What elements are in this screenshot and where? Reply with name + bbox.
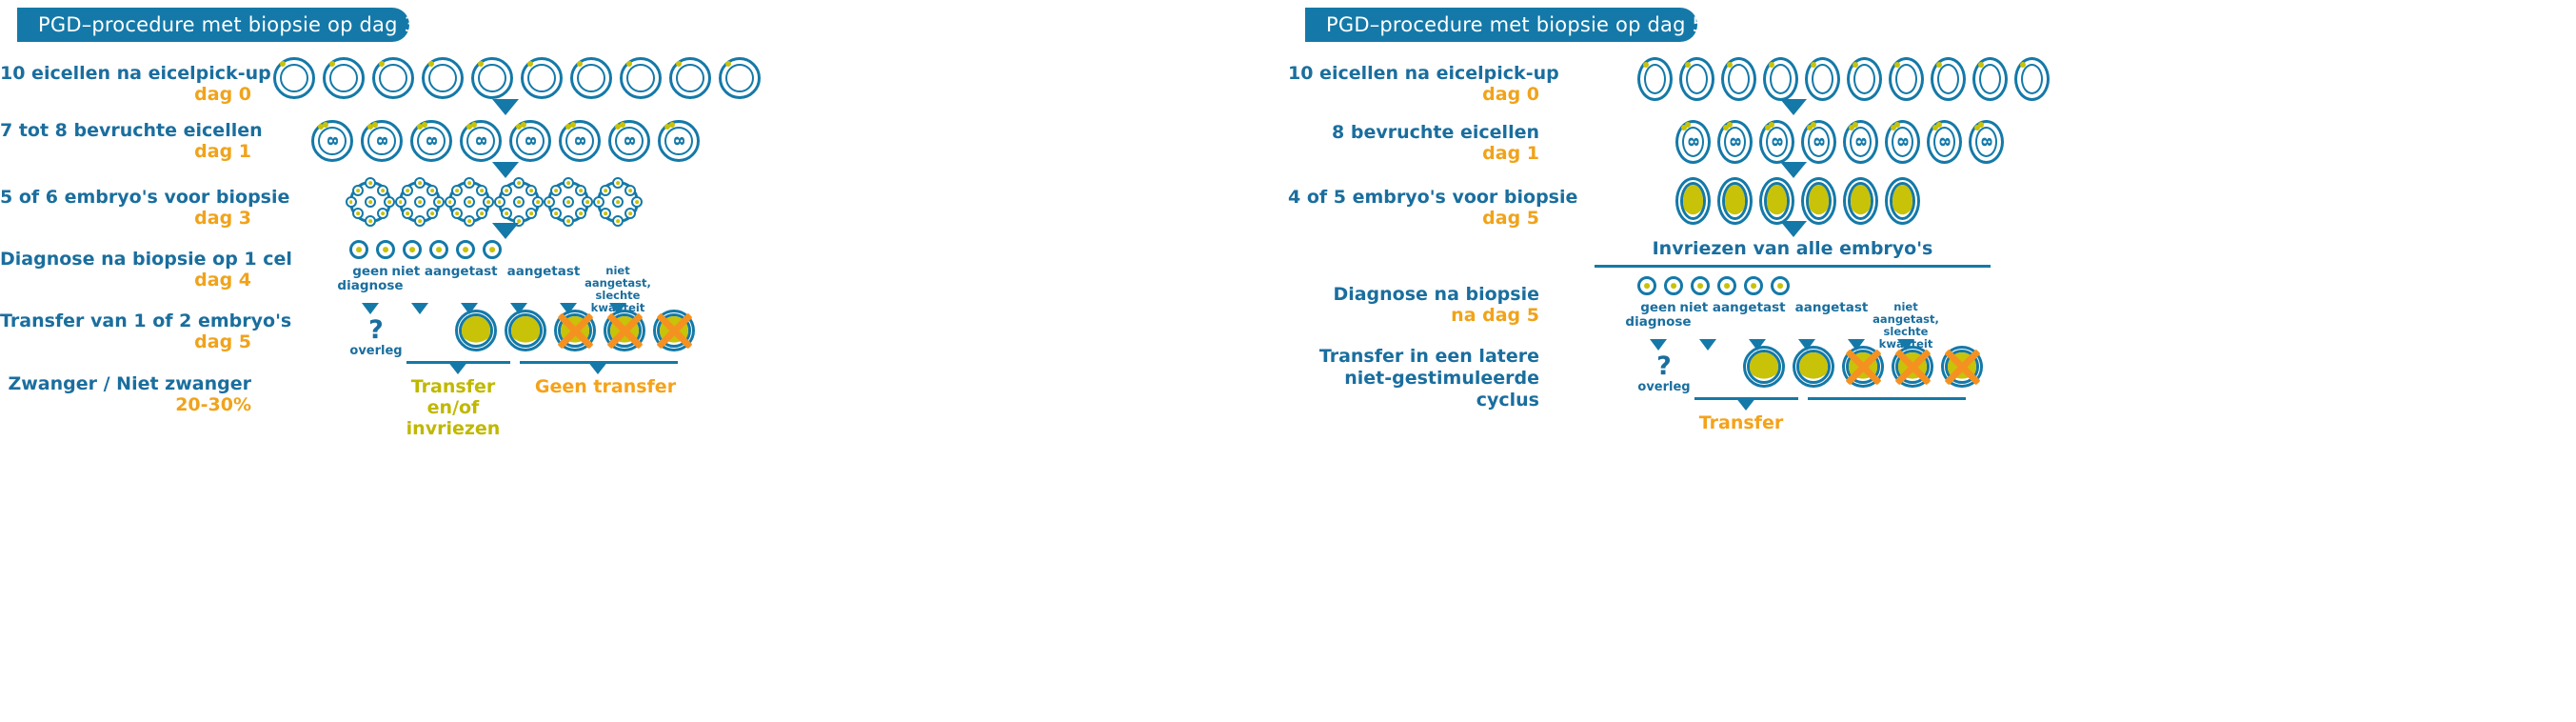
blastomere (395, 196, 406, 208)
pronuclei-icon: 8 (460, 120, 502, 162)
single-cell-biopsy-icon (1691, 276, 1710, 295)
page-title: PGD–procedure met biopsie op dag 3 (38, 13, 417, 36)
pronuclei-icon: 8 (1923, 125, 1967, 160)
stage-text: 8 bevruchte eicellen (1332, 122, 1539, 143)
blastomere (402, 208, 413, 219)
polar-body-dot (280, 61, 286, 67)
stage-day: dag 4 (0, 270, 251, 291)
single-cell-biopsy-icon (349, 240, 368, 259)
blastomere (433, 196, 445, 208)
blastomere (631, 196, 643, 208)
egg-inner-ring (280, 64, 308, 92)
question-mark-icon: ? (1636, 353, 1692, 379)
stage-label-embryos: 4 of 5 embryo's voor biopsie dag 5 (1288, 187, 1539, 230)
diagnosis-label: niet aangetast (1675, 301, 1790, 315)
blastomere (451, 208, 463, 219)
egg-cell-icon (521, 57, 563, 99)
blastomere (600, 185, 611, 196)
blastomere (445, 196, 456, 208)
egg-inner-ring (478, 64, 506, 92)
egg-inner-ring (1812, 64, 1833, 94)
fertilized-egg-icon: 8 (1801, 120, 1836, 164)
fertilized-egg-icon: 8 (559, 120, 601, 162)
fertilized-egg-icon: 8 (1759, 120, 1794, 164)
egg-inner-ring (379, 64, 407, 92)
row-outcome-embryos (406, 310, 695, 351)
pronuclei-icon: 8 (1672, 125, 1715, 160)
fertilized-egg-icon: 8 (1885, 120, 1920, 164)
row-eggs-day0 (273, 57, 761, 99)
egg-inner-ring (1937, 64, 1959, 94)
blastomere (501, 185, 512, 196)
row-outcome-embryos (1694, 346, 1983, 388)
egg-inner-ring (577, 64, 605, 92)
egg-cell-icon (1847, 57, 1882, 101)
egg-cell-icon (1931, 57, 1966, 101)
blastomere (483, 196, 494, 208)
embryo-rejected (1842, 346, 1884, 388)
blastomere (612, 215, 624, 227)
polar-body-dot (626, 61, 632, 67)
stage-label-diagnosis: Diagnose na biopsie op 1 cel dag 4 (0, 249, 251, 291)
blastomere (525, 208, 537, 219)
polar-body-dot (2020, 62, 2026, 68)
outcome-placeholder (406, 310, 447, 351)
single-cell-biopsy-icon (429, 240, 448, 259)
single-cell-biopsy-icon (1744, 276, 1763, 295)
embryo-rejected (653, 310, 695, 351)
fertilized-egg-icon: 8 (509, 120, 551, 162)
polar-body-dot (329, 61, 335, 67)
down-arrow-icon (587, 361, 608, 374)
polar-body-dot (1727, 62, 1733, 68)
row-diagnosis-cells (1637, 276, 1790, 295)
morula-embryo-icon (498, 181, 540, 223)
egg-inner-ring (2021, 64, 2043, 94)
egg-cell-icon (422, 57, 464, 99)
discard-cross-icon (1842, 346, 1884, 388)
egg-cell-icon (323, 57, 365, 99)
blastomere (612, 196, 624, 208)
row-fertilized-day1: 88888888 (1675, 120, 2004, 164)
blastomere (476, 185, 487, 196)
egg-inner-ring (1895, 64, 1917, 94)
blastomere (550, 185, 562, 196)
blastomere (414, 196, 426, 208)
blastomere (513, 177, 525, 189)
fertilized-egg-icon: 8 (1675, 120, 1711, 164)
pronuclei-icon: 8 (1714, 125, 1757, 160)
pronuclei-icon: 8 (559, 120, 601, 162)
egg-cell-icon (1972, 57, 2008, 101)
blastomere (575, 208, 586, 219)
egg-inner-ring (428, 64, 457, 92)
egg-inner-ring (527, 64, 556, 92)
discard-cross-icon (1941, 346, 1983, 388)
blastomere (624, 185, 636, 196)
page-title: PGD–procedure met biopsie op dag 5 (1326, 13, 1705, 36)
down-arrow-icon (1780, 162, 1807, 178)
egg-cell-icon (471, 57, 513, 99)
fertilized-egg-icon: 8 (1969, 120, 2004, 164)
result-transfer-freeze: Transfer en/of invriezen (386, 377, 520, 440)
blastomere (414, 177, 426, 189)
polar-body-dot (1853, 62, 1858, 68)
pronuclei-icon: 8 (1797, 125, 1841, 160)
freeze-underline (1595, 265, 1991, 268)
single-cell-biopsy-icon (1717, 276, 1736, 295)
stage-day: 20-30% (0, 394, 251, 415)
morula-embryo-icon (448, 181, 490, 223)
morula-embryo-icon (399, 181, 441, 223)
single-cell-biopsy-icon (483, 240, 502, 259)
blastomere (544, 196, 555, 208)
fertilized-egg-icon: 8 (460, 120, 502, 162)
discard-cross-icon (653, 310, 695, 351)
freeze-all-note: Invriezen van alle embryo's (1593, 238, 1992, 259)
blastomere (464, 196, 475, 208)
down-arrow-icon (492, 223, 519, 239)
egg-inner-ring (676, 64, 704, 92)
egg-inner-ring (1770, 64, 1792, 94)
egg-cell-icon (2014, 57, 2050, 101)
single-cell-biopsy-icon (376, 240, 395, 259)
blastomere (532, 196, 544, 208)
egg-cell-icon (1889, 57, 1924, 101)
stage-text: Zwanger / Niet zwanger (8, 373, 251, 394)
stage-text: Diagnose na biopsie (1333, 284, 1539, 305)
blastomere (377, 185, 388, 196)
stage-text: 7 tot 8 bevruchte eicellen (0, 120, 263, 141)
blastocyst-icon (1675, 177, 1711, 225)
egg-inner-ring (1853, 64, 1875, 94)
egg-cell-icon (669, 57, 711, 99)
blastomere (365, 177, 376, 189)
egg-cell-icon (372, 57, 414, 99)
egg-inner-ring (626, 64, 655, 92)
blastomere (464, 177, 475, 189)
blastomere (582, 196, 593, 208)
overleg-label: overleg (348, 344, 404, 358)
pronuclei-icon: 8 (608, 120, 650, 162)
stage-day: dag 3 (0, 208, 251, 229)
egg-inner-ring (725, 64, 754, 92)
pronuclei-icon: 8 (410, 120, 452, 162)
blastomere (346, 196, 357, 208)
blastomere (352, 208, 364, 219)
stage-text: Transfer van 1 of 2 embryo's (0, 311, 291, 331)
egg-cell-icon (570, 57, 612, 99)
blastomere (426, 185, 438, 196)
blastomere (593, 196, 604, 208)
blastomere (612, 177, 624, 189)
embryo-kept (455, 310, 497, 351)
blastomere (501, 208, 512, 219)
blastomere (525, 185, 537, 196)
blastomere (563, 196, 574, 208)
down-arrow-icon (492, 99, 519, 115)
discard-cross-icon (554, 310, 596, 351)
result-transfer: Transfer (1674, 413, 1808, 434)
polar-body-dot (428, 61, 434, 67)
stage-label-fertilized: 7 tot 8 bevruchte eicellen dag 1 (0, 120, 251, 163)
polar-body-dot (1685, 62, 1691, 68)
polar-body-dot (577, 61, 583, 67)
down-arrow-icon (1735, 397, 1756, 411)
embryo-kept (1743, 346, 1785, 388)
stage-label-eggs: 10 eicellen na eicelpick-up dag 0 (0, 63, 251, 106)
blastomere (402, 185, 413, 196)
row-embryos-day3 (349, 181, 639, 223)
row-eggs-day0 (1637, 57, 2050, 101)
blastomere (513, 196, 525, 208)
down-arrow-icon (1650, 339, 1667, 351)
egg-cell-icon (620, 57, 662, 99)
pronuclei-icon: 8 (1755, 125, 1799, 160)
question-mark-icon: ? (348, 317, 404, 343)
blastomere (563, 177, 574, 189)
polar-body-dot (527, 61, 533, 67)
blastocyst-icon (1885, 177, 1920, 225)
blastomere (600, 208, 611, 219)
egg-cell-icon (1763, 57, 1798, 101)
diagnosis-label: niet aangetast (387, 265, 502, 279)
polar-body-dot (1978, 62, 1984, 68)
polar-body-dot (1643, 62, 1649, 68)
embryo-rejected (554, 310, 596, 351)
stage-day: dag 1 (0, 141, 251, 162)
blastocyst-icon (1843, 177, 1878, 225)
morula-embryo-icon (547, 181, 589, 223)
down-arrow-icon (447, 361, 468, 374)
embryo-kept (505, 310, 546, 351)
blastomere (624, 208, 636, 219)
blastomere (365, 215, 376, 227)
pronuclei-icon: 8 (311, 120, 353, 162)
egg-inner-ring (1728, 64, 1750, 94)
overleg-label: overleg (1636, 380, 1692, 394)
no-diagnosis-outcome: ? overleg (348, 317, 404, 358)
blastomere (377, 208, 388, 219)
single-cell-biopsy-icon (456, 240, 475, 259)
result-no-transfer: Geen transfer (529, 377, 682, 398)
polar-body-dot (676, 61, 682, 67)
egg-cell-icon (1805, 57, 1840, 101)
panel-day3: PGD–procedure met biopsie op dag 3 10 ei… (0, 0, 1288, 722)
stage-label-embryos: 5 of 6 embryo's voor biopsie dag 3 (0, 187, 251, 230)
down-arrow-icon (492, 162, 519, 178)
polar-body-dot (1894, 62, 1900, 68)
stage-label-transfer: Transfer in een latere niet-gestimuleerd… (1288, 346, 1539, 411)
row-fertilized-day1: 88888888 (311, 120, 700, 162)
no-diagnosis-outcome: ? overleg (1636, 353, 1692, 394)
blastocyst-icon (1717, 177, 1753, 225)
stage-text: Diagnose na biopsie op 1 cel (0, 249, 292, 270)
fertilized-egg-icon: 8 (658, 120, 700, 162)
stage-text: 10 eicellen na eicelpick-up (1288, 63, 1559, 84)
polar-body-dot (725, 61, 731, 67)
embryo-rejected (604, 310, 645, 351)
stage-label-eggs: 10 eicellen na eicelpick-up dag 0 (1288, 63, 1539, 106)
fertilized-egg-icon: 8 (311, 120, 353, 162)
down-arrow-icon (1780, 221, 1807, 237)
discard-cross-icon (604, 310, 645, 351)
polar-body-dot (1769, 62, 1774, 68)
embryo-rejected (1892, 346, 1933, 388)
stage-day: dag 0 (1288, 84, 1539, 105)
panel-day5: PGD–procedure met biopsie op dag 5 10 ei… (1288, 0, 2576, 722)
egg-inner-ring (1686, 64, 1708, 94)
single-cell-biopsy-icon (1664, 276, 1683, 295)
egg-cell-icon (719, 57, 761, 99)
stage-day: dag 0 (0, 84, 251, 105)
single-cell-biopsy-icon (1771, 276, 1790, 295)
pronuclei-icon: 8 (1839, 125, 1883, 160)
blastomere (550, 208, 562, 219)
blastomere (451, 185, 463, 196)
egg-cell-icon (273, 57, 315, 99)
down-arrow-icon (362, 303, 379, 314)
panel-title-bar-day5: PGD–procedure met biopsie op dag 5 (1305, 8, 1697, 42)
polar-body-dot (379, 61, 385, 67)
blastomere (563, 215, 574, 227)
polar-body-dot (1936, 62, 1942, 68)
pronuclei-icon: 8 (1965, 125, 2009, 160)
fertilized-egg-icon: 8 (1927, 120, 1962, 164)
blastomere (365, 196, 376, 208)
blastocyst-icon (1759, 177, 1794, 225)
blastomere (575, 185, 586, 196)
fertilized-egg-icon: 8 (410, 120, 452, 162)
fertilized-egg-icon: 8 (361, 120, 403, 162)
fertilized-egg-icon: 8 (1843, 120, 1878, 164)
blastomere (494, 196, 505, 208)
egg-inner-ring (329, 64, 358, 92)
pronuclei-icon: 8 (658, 120, 700, 162)
single-cell-biopsy-icon (1637, 276, 1656, 295)
stage-label-diagnosis: Diagnose na biopsie na dag 5 (1288, 284, 1539, 327)
row-diagnosis-cells (349, 240, 502, 259)
single-cell-biopsy-icon (403, 240, 422, 259)
discard-cross-icon (1892, 346, 1933, 388)
pronuclei-icon: 8 (361, 120, 403, 162)
blastomere (476, 208, 487, 219)
blastomere (414, 215, 426, 227)
group-bracket-reject (1808, 397, 1966, 400)
fertilized-egg-icon: 8 (1717, 120, 1753, 164)
blastomere (426, 208, 438, 219)
stage-text: Transfer in een latere niet-gestimuleerd… (1319, 346, 1539, 411)
blastocyst-icon (1801, 177, 1836, 225)
stage-label-transfer: Transfer van 1 of 2 embryo's dag 5 (0, 311, 251, 353)
outcome-placeholder (1694, 346, 1735, 388)
fertilized-egg-icon: 8 (608, 120, 650, 162)
egg-cell-icon (1637, 57, 1673, 101)
stage-day: dag 1 (1288, 143, 1539, 164)
egg-inner-ring (1644, 64, 1666, 94)
pronuclei-icon: 8 (509, 120, 551, 162)
stage-text: 4 of 5 embryo's voor biopsie (1288, 187, 1577, 208)
polar-body-dot (1811, 62, 1816, 68)
stage-day: dag 5 (1288, 208, 1539, 229)
row-embryos-day5 (1675, 177, 1920, 225)
stage-day: na dag 5 (1288, 305, 1539, 326)
down-arrow-icon (1780, 99, 1807, 115)
polar-body-dot (478, 61, 484, 67)
panel-title-bar-day3: PGD–procedure met biopsie op dag 3 (17, 8, 409, 42)
stage-label-pregnancy: Zwanger / Niet zwanger 20-30% (0, 373, 251, 416)
blastomere (464, 215, 475, 227)
blastomere (384, 196, 395, 208)
embryo-rejected (1941, 346, 1983, 388)
morula-embryo-icon (349, 181, 391, 223)
stage-text: 10 eicellen na eicelpick-up (0, 63, 271, 84)
egg-cell-icon (1721, 57, 1756, 101)
stage-day: dag 5 (0, 331, 251, 352)
blastomere (352, 185, 364, 196)
morula-embryo-icon (597, 181, 639, 223)
pronuclei-icon: 8 (1881, 125, 1925, 160)
stage-text: 5 of 6 embryo's voor biopsie (0, 187, 289, 208)
egg-inner-ring (1979, 64, 2001, 94)
stage-label-fertilized: 8 bevruchte eicellen dag 1 (1288, 122, 1539, 165)
egg-cell-icon (1679, 57, 1714, 101)
embryo-kept (1793, 346, 1834, 388)
